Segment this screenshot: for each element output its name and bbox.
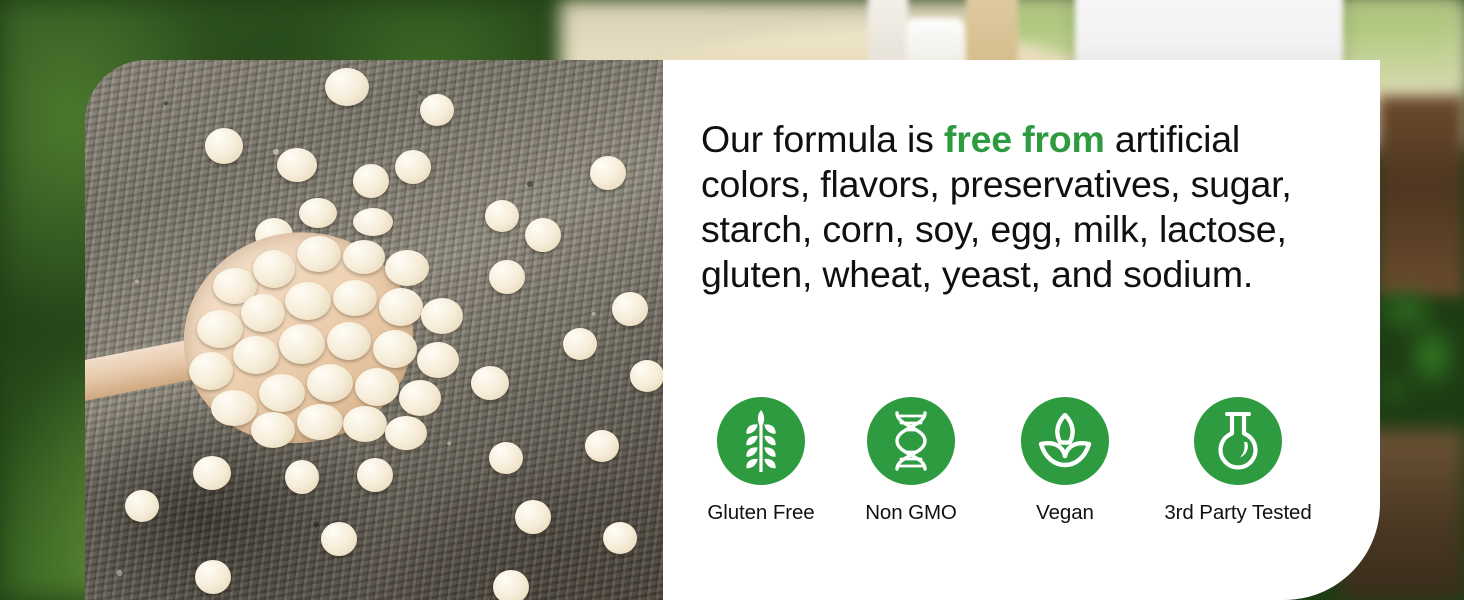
tablet	[421, 298, 463, 334]
tablet	[285, 282, 331, 320]
badge-non-gmo[interactable]: Non GMO	[833, 397, 989, 525]
headline-highlight: free from	[944, 118, 1105, 160]
background-container-small-icon	[868, 0, 908, 64]
wheat-icon	[733, 410, 789, 472]
tablet	[493, 570, 529, 600]
tablet	[285, 460, 319, 494]
tablet	[125, 490, 159, 522]
tablet	[489, 442, 523, 474]
headline-before: Our formula is	[701, 118, 944, 160]
tablet	[299, 198, 337, 228]
badge-label: Gluten Free	[707, 501, 814, 525]
tablet	[603, 522, 637, 554]
tablet	[590, 156, 626, 190]
badge-label: Vegan	[1036, 501, 1094, 525]
tablet	[253, 250, 295, 288]
badge-label: Non GMO	[865, 501, 957, 525]
tablet	[353, 164, 389, 198]
tablet	[259, 374, 305, 412]
tablet	[489, 260, 525, 294]
tablet	[205, 128, 243, 164]
background-wooden-rail	[1378, 96, 1464, 296]
tablet	[297, 236, 341, 272]
badge-vegan[interactable]: Vegan	[989, 397, 1141, 525]
tablet	[307, 364, 353, 402]
headline: Our formula is free from artificial colo…	[701, 117, 1329, 297]
tablet	[385, 250, 429, 286]
badge-circle	[717, 397, 805, 485]
tablet	[612, 292, 648, 326]
tablet	[195, 560, 231, 594]
tablet	[357, 458, 393, 492]
leaf-icon	[1034, 413, 1096, 469]
tablet	[279, 324, 325, 364]
badge-label: 3rd Party Tested	[1164, 501, 1311, 525]
certification-badges: Gluten Free	[689, 397, 1335, 525]
tablet	[297, 404, 343, 440]
tablet	[420, 94, 454, 126]
tablet	[485, 200, 519, 232]
tablet	[353, 208, 393, 236]
tablet	[395, 150, 431, 184]
tablet	[251, 412, 295, 448]
badge-circle	[1194, 397, 1282, 485]
tablet	[585, 430, 619, 462]
tablet	[515, 500, 551, 534]
tablet	[325, 68, 369, 106]
tablet	[373, 330, 417, 368]
tablet	[417, 342, 459, 378]
product-photo	[85, 60, 663, 600]
dna-icon	[886, 411, 936, 471]
badge-gluten-free[interactable]: Gluten Free	[689, 397, 833, 525]
tablet	[241, 294, 285, 332]
tablet	[385, 416, 427, 450]
tablet	[355, 368, 399, 406]
content-card: Our formula is free from artificial colo…	[663, 60, 1380, 600]
tablet	[471, 366, 509, 400]
flask-icon	[1212, 411, 1264, 471]
tablet	[327, 322, 371, 360]
tablet	[277, 148, 317, 182]
badge-circle	[1021, 397, 1109, 485]
tablet	[343, 240, 385, 274]
tablet	[333, 280, 377, 316]
tablet	[189, 352, 233, 390]
tablet	[343, 406, 387, 442]
tablet	[525, 218, 561, 252]
tablet	[563, 328, 597, 360]
tablet	[233, 336, 279, 374]
badge-circle	[867, 397, 955, 485]
tablet	[321, 522, 357, 556]
tablet	[630, 360, 663, 392]
tablet	[197, 310, 243, 348]
tablet	[379, 288, 423, 326]
tablet	[399, 380, 441, 416]
badge-3rd-party-tested[interactable]: 3rd Party Tested	[1141, 397, 1335, 525]
tablet	[193, 456, 231, 490]
promo-banner: Our formula is free from artificial colo…	[0, 0, 1464, 600]
tablet	[211, 390, 257, 426]
